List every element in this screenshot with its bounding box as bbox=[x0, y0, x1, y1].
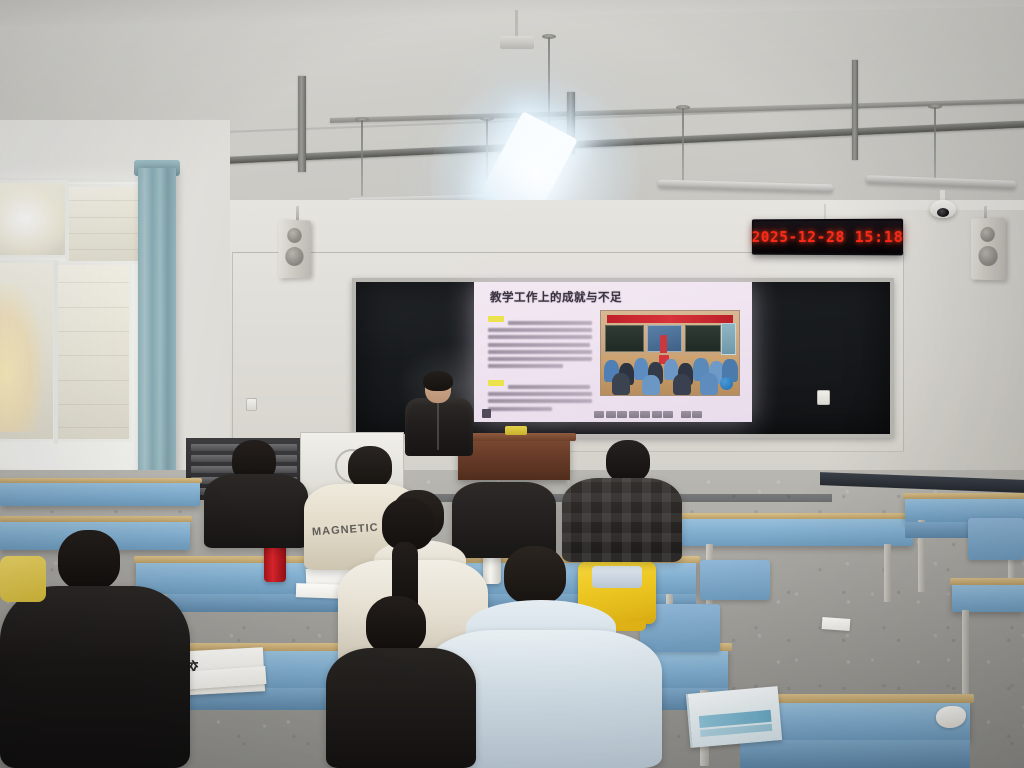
desk-right-aisle-2 bbox=[952, 582, 1024, 612]
wall-outlet-left[interactable] bbox=[246, 398, 257, 411]
chair-right-aisle bbox=[968, 518, 1024, 560]
led-wall-clock: 2025-12-28 15:18 bbox=[752, 219, 903, 256]
ceiling-projector bbox=[500, 36, 534, 49]
wall-speaker-right bbox=[971, 217, 1006, 280]
student-plaid-body bbox=[562, 478, 682, 562]
conduit-drop-left bbox=[298, 76, 306, 172]
wall-speaker-left bbox=[278, 220, 311, 279]
classroom-scene: 教学工作上的成就与不足 bbox=[0, 0, 1024, 768]
slide-text-block-achievements bbox=[488, 310, 592, 371]
led-clock-text: 2025-12-28 15:18 bbox=[752, 228, 904, 246]
window bbox=[0, 178, 144, 478]
wall-outlet-right[interactable] bbox=[817, 390, 830, 405]
projected-slide: 教学工作上的成就与不足 bbox=[474, 282, 752, 422]
paper-on-right-desk bbox=[822, 617, 851, 631]
presenter-body bbox=[405, 398, 473, 456]
slide-highlight-tag-2 bbox=[488, 380, 504, 386]
desk-row1-right bbox=[678, 516, 913, 546]
clock-power-cord bbox=[824, 204, 826, 220]
projector-mount-rod bbox=[515, 10, 518, 38]
window-pane-lower-left bbox=[0, 260, 56, 442]
desk-row1-left bbox=[0, 480, 200, 506]
podium-item bbox=[505, 426, 527, 435]
slide-toolbar[interactable] bbox=[594, 410, 720, 419]
window-curtain bbox=[138, 168, 176, 486]
textbook-on-desk[interactable] bbox=[686, 686, 782, 748]
chair-row2-right bbox=[700, 560, 770, 600]
slide-corner-logo bbox=[482, 409, 491, 418]
yellow-cloth-left bbox=[0, 556, 46, 602]
slide-title: 教学工作上的成就与不足 bbox=[490, 289, 622, 305]
conduit-drop-right bbox=[852, 60, 858, 160]
window-pane-lower-right bbox=[54, 262, 132, 442]
slide-embedded-photo bbox=[600, 310, 740, 396]
slide-text-block-shortcomings bbox=[488, 374, 592, 414]
camera-lens-icon bbox=[937, 208, 949, 217]
presenter-hair bbox=[423, 371, 453, 391]
slide-highlight-tag-1 bbox=[488, 316, 504, 322]
